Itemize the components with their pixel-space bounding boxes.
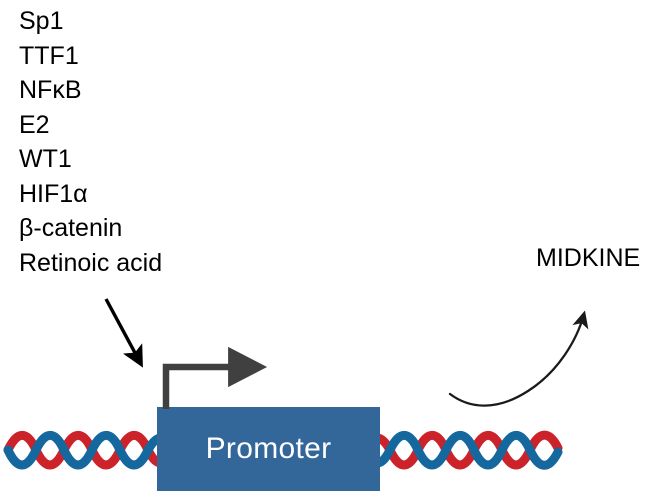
dna-strand-blue-left xyxy=(8,435,161,465)
tf-item: TTF1 xyxy=(19,39,319,74)
dna-strand-red-right xyxy=(377,435,558,465)
midkine-label: MIDKINE xyxy=(536,243,640,273)
diagram-canvas: Promoter Sp1 TTF1 NFκB E2 WT1 HIF1α β-ca xyxy=(0,0,671,503)
promoter-label: Promoter xyxy=(206,432,332,466)
promoter-to-midkine-arrow xyxy=(450,314,584,406)
tf-item: Retinoic acid xyxy=(19,246,319,281)
tf-item: β-catenin xyxy=(19,211,319,246)
transcription-start-site-arrow xyxy=(166,367,258,409)
tf-item: NFκB xyxy=(19,73,319,108)
promoter-box: Promoter xyxy=(157,407,380,491)
tf-item: HIF1α xyxy=(19,177,319,212)
tf-item: E2 xyxy=(19,108,319,143)
transcription-factor-list: Sp1 TTF1 NFκB E2 WT1 HIF1α β-catenin Ret… xyxy=(19,4,319,280)
dna-left-segment xyxy=(8,435,161,465)
tf-item: Sp1 xyxy=(19,4,319,39)
tf-item: WT1 xyxy=(19,142,319,177)
dna-strand-blue-right xyxy=(377,435,558,465)
dna-strand-red-left xyxy=(8,435,161,465)
transcription-factor-to-promoter-arrow xyxy=(106,299,141,364)
dna-right-segment xyxy=(377,435,558,465)
